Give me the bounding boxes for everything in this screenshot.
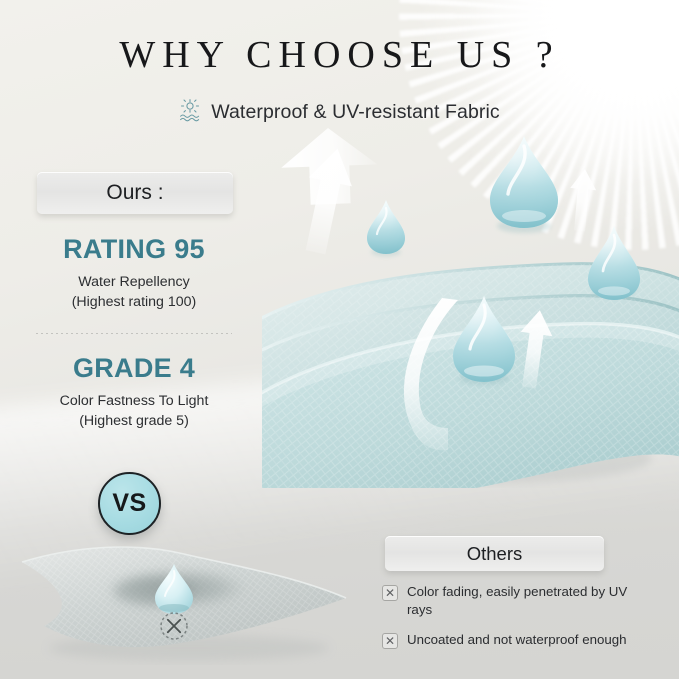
subtitle-text: Waterproof & UV-resistant Fabric (211, 101, 500, 124)
versus-badge: VS (98, 472, 161, 535)
water-droplet-small (367, 200, 405, 257)
versus-label: VS (112, 489, 146, 518)
stat-grade-line2: (Highest grade 5) (79, 413, 189, 429)
water-droplet-right (588, 226, 640, 300)
others-label-text: Others (467, 543, 523, 565)
infographic-canvas: WHY CHOOSE US ? Waterproof & UV-resistan… (0, 0, 679, 679)
ours-stats: RATING 95 Water Repellency (Highest rati… (20, 235, 248, 431)
stat-grade-sub: Color Fastness To Light (Highest grade 5… (20, 391, 248, 431)
stat-rating-line1: Water Repellency (78, 274, 189, 290)
sun-over-water-icon (179, 98, 201, 127)
x-mark-icon: ✕ (382, 633, 398, 649)
stat-rating-sub: Water Repellency (Highest rating 100) (20, 272, 248, 312)
ours-label-box: Ours : (37, 172, 233, 214)
others-label-box: Others (385, 536, 604, 571)
stat-block-grade: GRADE 4 Color Fastness To Light (Highest… (20, 354, 248, 431)
others-item-text: Uncoated and not waterproof enough (407, 631, 627, 649)
others-list: ✕ Color fading, easily penetrated by UV … (382, 583, 650, 662)
stats-divider (36, 333, 232, 334)
repellency-arrow-right (567, 168, 598, 232)
stat-grade-heading: GRADE 4 (20, 354, 248, 384)
stat-grade-line1: Color Fastness To Light (60, 393, 209, 409)
x-mark-icon: ✕ (382, 585, 398, 601)
list-item: ✕ Color fading, easily penetrated by UV … (382, 583, 650, 618)
stat-block-rating: RATING 95 Water Repellency (Highest rati… (20, 235, 248, 312)
stat-rating-line2: (Highest rating 100) (72, 294, 197, 310)
ours-label-text: Ours : (106, 181, 163, 205)
non-waterproof-fabric-illustration (14, 540, 354, 665)
page-title: WHY CHOOSE US ? (0, 33, 679, 77)
water-droplet-large (490, 136, 558, 233)
subtitle-row: Waterproof & UV-resistant Fabric (0, 98, 679, 127)
waterproof-fabric-illustration (262, 128, 679, 488)
stat-rating-heading: RATING 95 (20, 235, 248, 265)
others-item-text: Color fading, easily penetrated by UV ra… (407, 583, 650, 618)
list-item: ✕ Uncoated and not waterproof enough (382, 631, 650, 649)
